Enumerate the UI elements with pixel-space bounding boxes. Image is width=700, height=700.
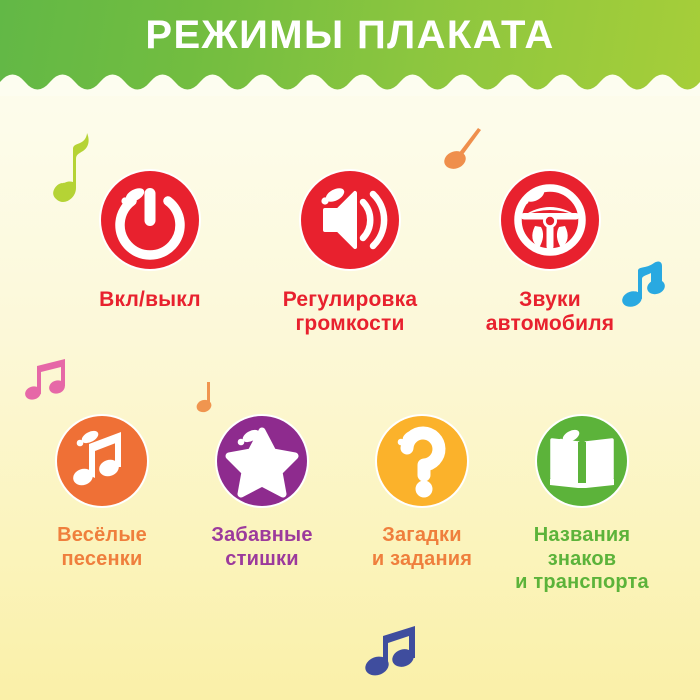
mode-item-volume[interactable]: Регулировка громкости: [250, 168, 450, 337]
power-icon[interactable]: [98, 168, 202, 272]
modes-row-bottom: Весёлые песенки Забавные стишки Загадки: [0, 413, 700, 595]
mode-item-car-sounds[interactable]: Звуки автомобиля: [450, 168, 650, 337]
open-book-icon[interactable]: [534, 413, 630, 509]
steering-wheel-icon[interactable]: [498, 168, 602, 272]
mode-label-songs: Весёлые песенки: [57, 524, 147, 571]
header-banner: РЕЖИМЫ ПЛАКАТА: [0, 0, 700, 92]
mode-label-rhymes: Забавные стишки: [211, 524, 312, 571]
poster-root: РЕЖИМЫ ПЛАКАТА: [0, 0, 700, 700]
mode-item-riddles[interactable]: Загадки и задания: [342, 413, 502, 595]
mode-label-volume: Регулировка громкости: [283, 288, 418, 337]
mode-label-car-sounds: Звуки автомобиля: [486, 288, 614, 337]
speaker-volume-icon[interactable]: [298, 168, 402, 272]
music-notes-icon[interactable]: [54, 413, 150, 509]
mode-item-power[interactable]: Вкл/выкл: [50, 168, 250, 337]
mode-item-songs[interactable]: Весёлые песенки: [22, 413, 182, 595]
mode-label-power: Вкл/выкл: [99, 288, 201, 312]
page-title: РЕЖИМЫ ПЛАКАТА: [0, 0, 700, 68]
mode-item-signs[interactable]: Названия знаков и транспорта: [502, 413, 662, 595]
star-icon[interactable]: [214, 413, 310, 509]
mode-item-rhymes[interactable]: Забавные стишки: [182, 413, 342, 595]
music-note-indigo-icon: [355, 624, 431, 692]
modes-row-top: Вкл/выкл Регулировка громкости: [0, 168, 700, 337]
mode-label-signs: Названия знаков и транспорта: [515, 524, 649, 595]
mode-label-riddles: Загадки и задания: [372, 524, 472, 571]
scalloped-edge-divider: [0, 70, 700, 96]
question-mark-icon[interactable]: [374, 413, 470, 509]
music-note-pink-icon: [23, 358, 75, 406]
music-note-orange-top-icon: [443, 124, 491, 172]
music-note-orange-small-icon: [195, 378, 225, 418]
